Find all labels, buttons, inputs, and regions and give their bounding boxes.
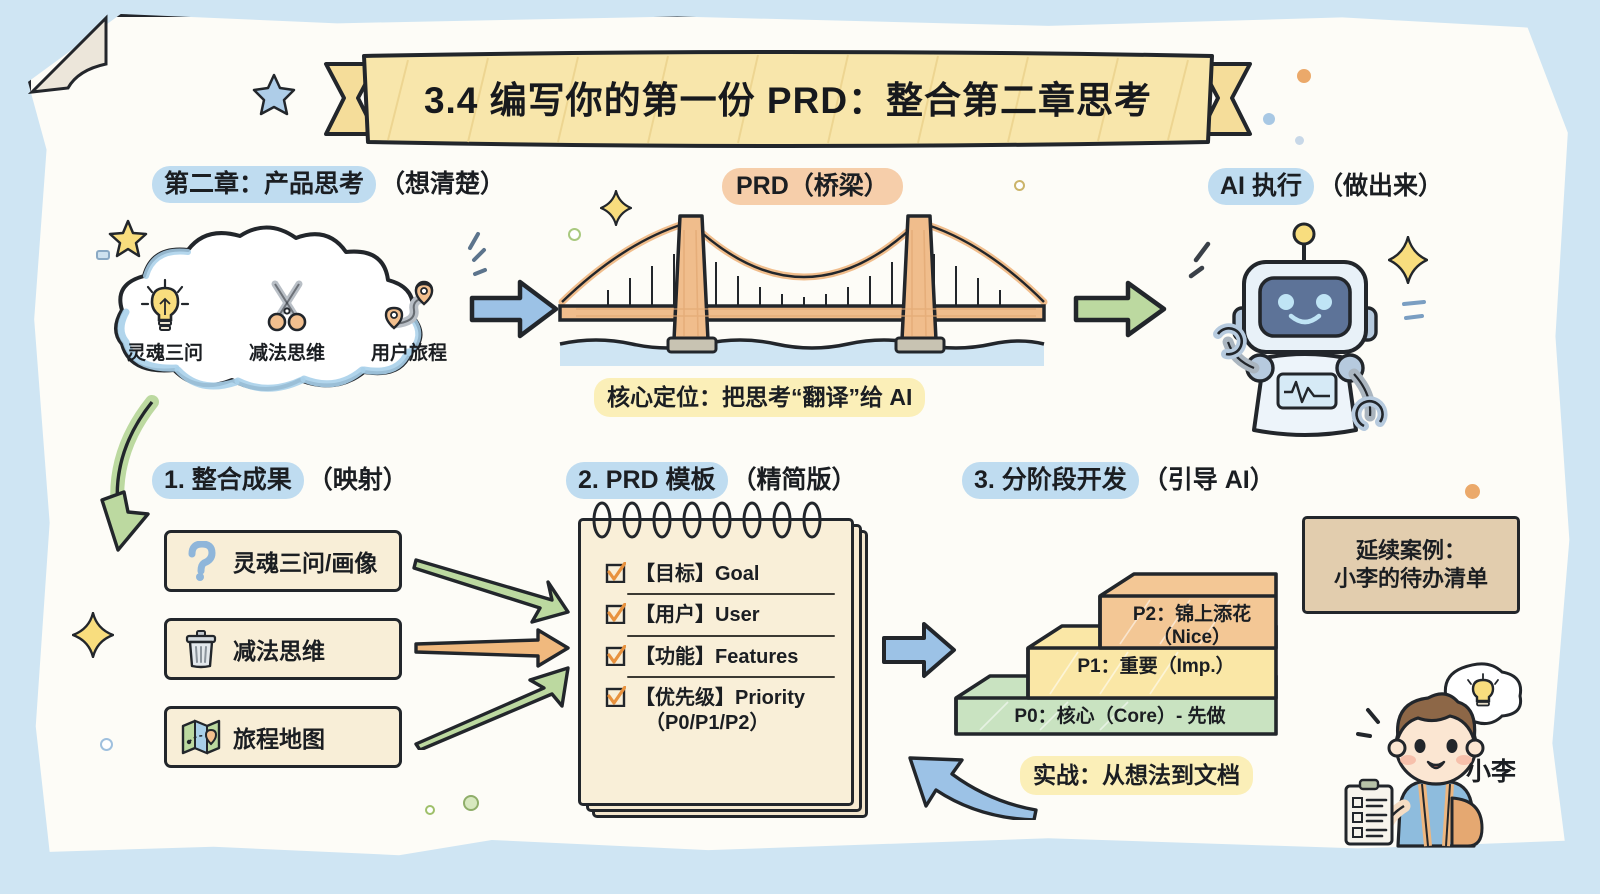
chapter-label-plain: （想清楚） — [376, 170, 505, 198]
arrow-cloud-to-bridge — [468, 276, 560, 342]
deco-dot-yellow-1 — [1014, 180, 1025, 191]
practice-caption: 实战：从想法到文档 — [1020, 756, 1253, 790]
prd-checklist-label-2: 【功能】Features — [635, 645, 798, 669]
case-study-signpost: 延续案例： 小李的待办清单 — [1302, 516, 1520, 626]
chapter-label-highlight: 第二章：产品思考 — [152, 166, 376, 203]
mapping-card-1[interactable]: 减法思维 — [164, 618, 402, 680]
checkbox-checked-icon — [605, 686, 626, 707]
character-name-label: 小李 — [1466, 752, 1516, 788]
mapping-card-label-2: 旅程地图 — [233, 720, 325, 754]
blue-star-icon — [252, 72, 296, 116]
cloud-item-0: 灵魂三问 — [109, 278, 221, 365]
priority-stairs: P2：锦上添花 （Nice） P1：重要（Imp.） P0：核心（Core）- … — [950, 520, 1280, 745]
page-title: 3.4 编写你的第一份 PRD：整合第二章思考 — [318, 46, 1258, 152]
trash-can-icon — [181, 629, 221, 669]
cloud-item-2: 用户旅程 — [353, 278, 465, 365]
bridge-caption-text: 核心定位：把思考“翻译”给 AI — [594, 378, 925, 417]
folded-map-icon — [181, 717, 221, 757]
prd-checklist-label-3: 【优先级】Priority — [635, 686, 805, 710]
section3-heading-highlight: 3. 分阶段开发 — [962, 462, 1139, 499]
checkbox-checked-icon — [605, 562, 626, 583]
lightbulb-icon — [139, 278, 191, 334]
deco-dot-blue-2 — [1295, 136, 1304, 145]
section3-heading: 3. 分阶段开发（引导 AI） — [962, 466, 1275, 495]
notepad-rule-2 — [627, 676, 835, 678]
arrow-bridge-to-ai — [1072, 278, 1168, 340]
deco-dot-green-3 — [425, 805, 435, 815]
notepad-spiral-rings — [574, 500, 858, 542]
product-thinking-cloud: 灵魂三问 减法思维 — [96, 218, 478, 410]
yellow-star-icon — [108, 218, 148, 258]
mapping-card-0[interactable]: 灵魂三问/画像 — [164, 530, 402, 592]
route-map-icon — [380, 278, 438, 334]
cloud-item-label-0: 灵魂三问 — [127, 338, 203, 365]
deco-dot-blue-3 — [100, 738, 113, 751]
stair-label-p1: P1：重要（Imp.） — [1036, 656, 1276, 679]
motion-lines-robot — [1186, 238, 1220, 296]
notepad-front-sheet: 【目标】Goal 【用户】User — [578, 518, 854, 806]
prd-checklist-row-1[interactable]: 【用户】User — [591, 596, 849, 636]
practice-caption-text: 实战：从想法到文档 — [1020, 756, 1253, 795]
notepad-rule-0 — [627, 593, 835, 595]
section1-heading-plain: （映射） — [304, 466, 408, 494]
question-mark-icon — [181, 541, 221, 581]
sparkle-icon-left — [72, 612, 114, 658]
chapter-label: 第二章：产品思考（想清楚） — [152, 170, 505, 199]
prd-checklist-label-0: 【目标】Goal — [635, 562, 759, 586]
sparkle-icon-robot — [1388, 236, 1428, 284]
mapping-card-2[interactable]: 旅程地图 — [164, 706, 402, 768]
ai-execution-highlight: AI 执行 — [1208, 168, 1314, 205]
deco-dot-green-1 — [568, 228, 581, 241]
signpost-board: 延续案例： 小李的待办清单 — [1302, 516, 1520, 614]
ai-execution-plain: （做出来） — [1314, 172, 1443, 200]
deco-chip-1 — [96, 250, 110, 260]
prd-checklist-label-1: 【用户】User — [635, 603, 759, 627]
section3-heading-plain: （引导 AI） — [1139, 466, 1275, 494]
section2-heading: 2. PRD 模板（精简版） — [566, 466, 857, 495]
prd-checklist-sub-3: （P0/P1/P2） — [635, 711, 805, 735]
stair-label-p0: P0：核心（Core）- 先做 — [964, 706, 1276, 729]
prd-checklist-row-3[interactable]: 【优先级】Priority （P0/P1/P2） — [591, 679, 849, 741]
deco-dot-orange-1 — [1297, 69, 1311, 83]
prd-checklist-row-2[interactable]: 【功能】Features — [591, 638, 849, 678]
motion-lines-robot-2 — [1398, 296, 1432, 336]
cloud-item-label-1: 减法思维 — [249, 338, 325, 365]
title-banner: 3.4 编写你的第一份 PRD：整合第二章思考 — [318, 46, 1258, 152]
cloud-item-1: 减法思维 — [231, 278, 343, 365]
signpost-line-2: 小李的待办清单 — [1334, 565, 1488, 593]
mapping-card-label-1: 减法思维 — [233, 632, 325, 666]
scissors-icon — [261, 278, 313, 334]
arrow-card2-to-notepad — [412, 654, 572, 750]
section1-heading: 1. 整合成果（映射） — [152, 466, 408, 495]
stair-label-p2: P2：锦上添花 （Nice） — [1108, 604, 1276, 650]
deco-dot-green-2 — [463, 795, 479, 811]
section1-heading-highlight: 1. 整合成果 — [152, 462, 304, 499]
cloud-item-label-2: 用户旅程 — [371, 338, 447, 365]
arrow-card0-to-notepad — [412, 556, 572, 632]
cloud-item-list: 灵魂三问 减法思维 — [96, 278, 478, 365]
arrow-notepad-to-stairs — [880, 620, 958, 680]
prd-template-notepad: 【目标】Goal 【用户】User — [578, 518, 868, 818]
notepad-rule-1 — [627, 635, 835, 637]
sparkle-icon-bridge — [600, 190, 632, 226]
ai-execution-label: AI 执行（做出来） — [1208, 172, 1443, 201]
bridge-caption: 核心定位：把思考“翻译”给 AI — [594, 378, 925, 412]
prd-checklist-row-0[interactable]: 【目标】Goal — [591, 555, 849, 595]
section2-heading-highlight: 2. PRD 模板 — [566, 462, 728, 499]
deco-dot-blue-1 — [1263, 113, 1275, 125]
checkbox-checked-icon — [605, 645, 626, 666]
signpost-line-1: 延续案例： — [1356, 537, 1466, 565]
section2-heading-plain: （精简版） — [728, 466, 857, 494]
infographic-canvas: 3.4 编写你的第一份 PRD：整合第二章思考 第二章：产品思考（想清楚） — [0, 0, 1600, 894]
prd-checklist: 【目标】Goal 【用户】User — [591, 555, 849, 741]
checkbox-checked-icon — [605, 603, 626, 624]
mapping-card-label-0: 灵魂三问/画像 — [233, 544, 377, 578]
deco-dot-orange-2 — [1465, 484, 1480, 499]
